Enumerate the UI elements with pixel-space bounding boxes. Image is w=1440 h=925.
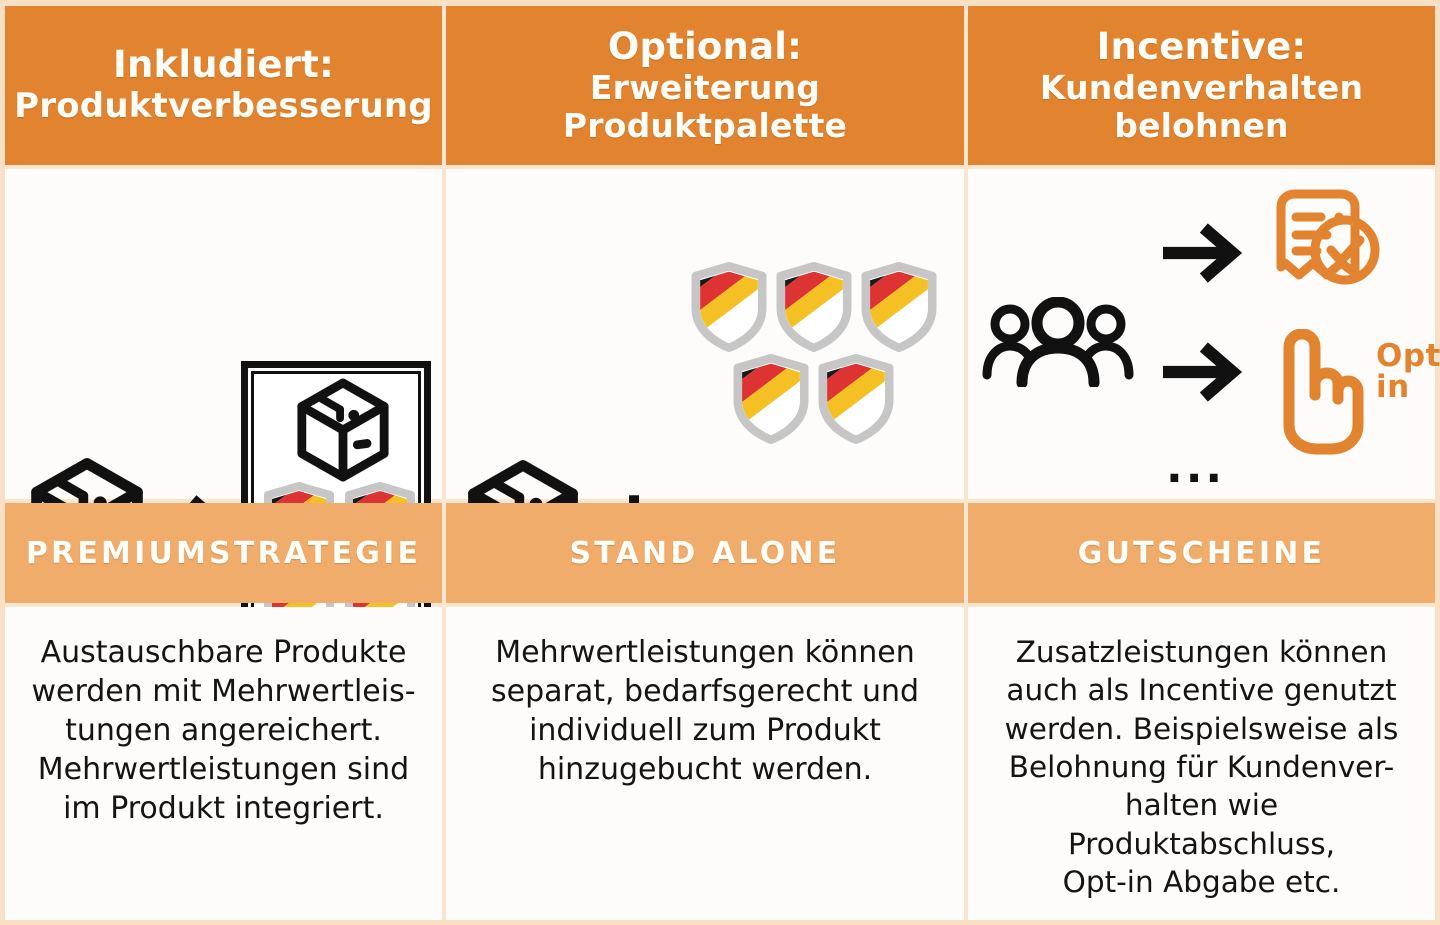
body-cell-premiumstrategie: Austauschbare Produkte werden mit Mehrwe… (5, 607, 442, 920)
body-row: Austauschbare Produkte werden mit Mehrwe… (5, 607, 1435, 920)
header-title-3: Incentive: (1097, 26, 1307, 69)
comparison-diagram: Inkludiert: Produktverbesserung Optional… (0, 0, 1440, 925)
band-cell-premiumstrategie: PREMIUMSTRATEGIE (5, 503, 442, 603)
band-row: PREMIUMSTRATEGIE STAND ALONE GUTSCHEINE (5, 499, 1435, 607)
header-cell-incentive: Incentive: Kundenverhalten belohnen (964, 6, 1435, 165)
header-subtitle-2: Erweiterung Produktpalette (456, 69, 954, 146)
certificate-check-icon (1265, 187, 1385, 299)
header-subtitle-3: Kundenverhalten belohnen (978, 69, 1425, 146)
pointing-hand-icon (1265, 329, 1367, 455)
shield-icon (859, 262, 939, 352)
band-label-2: STAND ALONE (570, 536, 841, 571)
header-title-2: Optional: (608, 26, 802, 69)
icon-cell-premiumstrategie (5, 169, 442, 499)
arrow-right-icon (1163, 222, 1245, 284)
icon-cell-stand-alone: + (442, 169, 964, 499)
band-label-1: PREMIUMSTRATEGIE (26, 536, 421, 571)
body-text-3: Zusatzleistungen können auch als Incenti… (990, 633, 1413, 901)
body-text-2: Mehrwertleistungen können separat, bedar… (468, 633, 942, 789)
body-cell-gutscheine: Zusatzleistungen können auch als Incenti… (964, 607, 1435, 920)
body-cell-stand-alone: Mehrwertleistungen können separat, bedar… (442, 607, 964, 920)
header-title-1: Inkludiert: (113, 44, 334, 87)
icon-cell-gutscheine: Opt-in ... (964, 169, 1435, 499)
shield-icon (816, 354, 896, 444)
people-group-icon (982, 297, 1134, 387)
ellipsis-indicator: ... (1166, 446, 1225, 490)
arrow-right-icon (1163, 341, 1245, 403)
header-row: Inkludiert: Produktverbesserung Optional… (5, 6, 1435, 169)
shield-icon (689, 262, 769, 352)
header-cell-optional: Optional: Erweiterung Produktpalette (442, 6, 964, 165)
body-text-1: Austauschbare Produkte werden mit Mehrwe… (27, 633, 420, 828)
optin-label: Opt-in (1376, 341, 1440, 403)
band-cell-gutscheine: GUTSCHEINE (964, 503, 1435, 603)
band-cell-stand-alone: STAND ALONE (442, 503, 964, 603)
header-cell-inkludiert: Inkludiert: Produktverbesserung (5, 6, 442, 165)
box-icon (294, 378, 392, 482)
shield-icon (774, 262, 854, 352)
header-subtitle-1: Produktverbesserung (14, 87, 433, 126)
band-label-3: GUTSCHEINE (1078, 536, 1325, 571)
icon-row: + (5, 169, 1435, 499)
shield-icon (731, 354, 811, 444)
